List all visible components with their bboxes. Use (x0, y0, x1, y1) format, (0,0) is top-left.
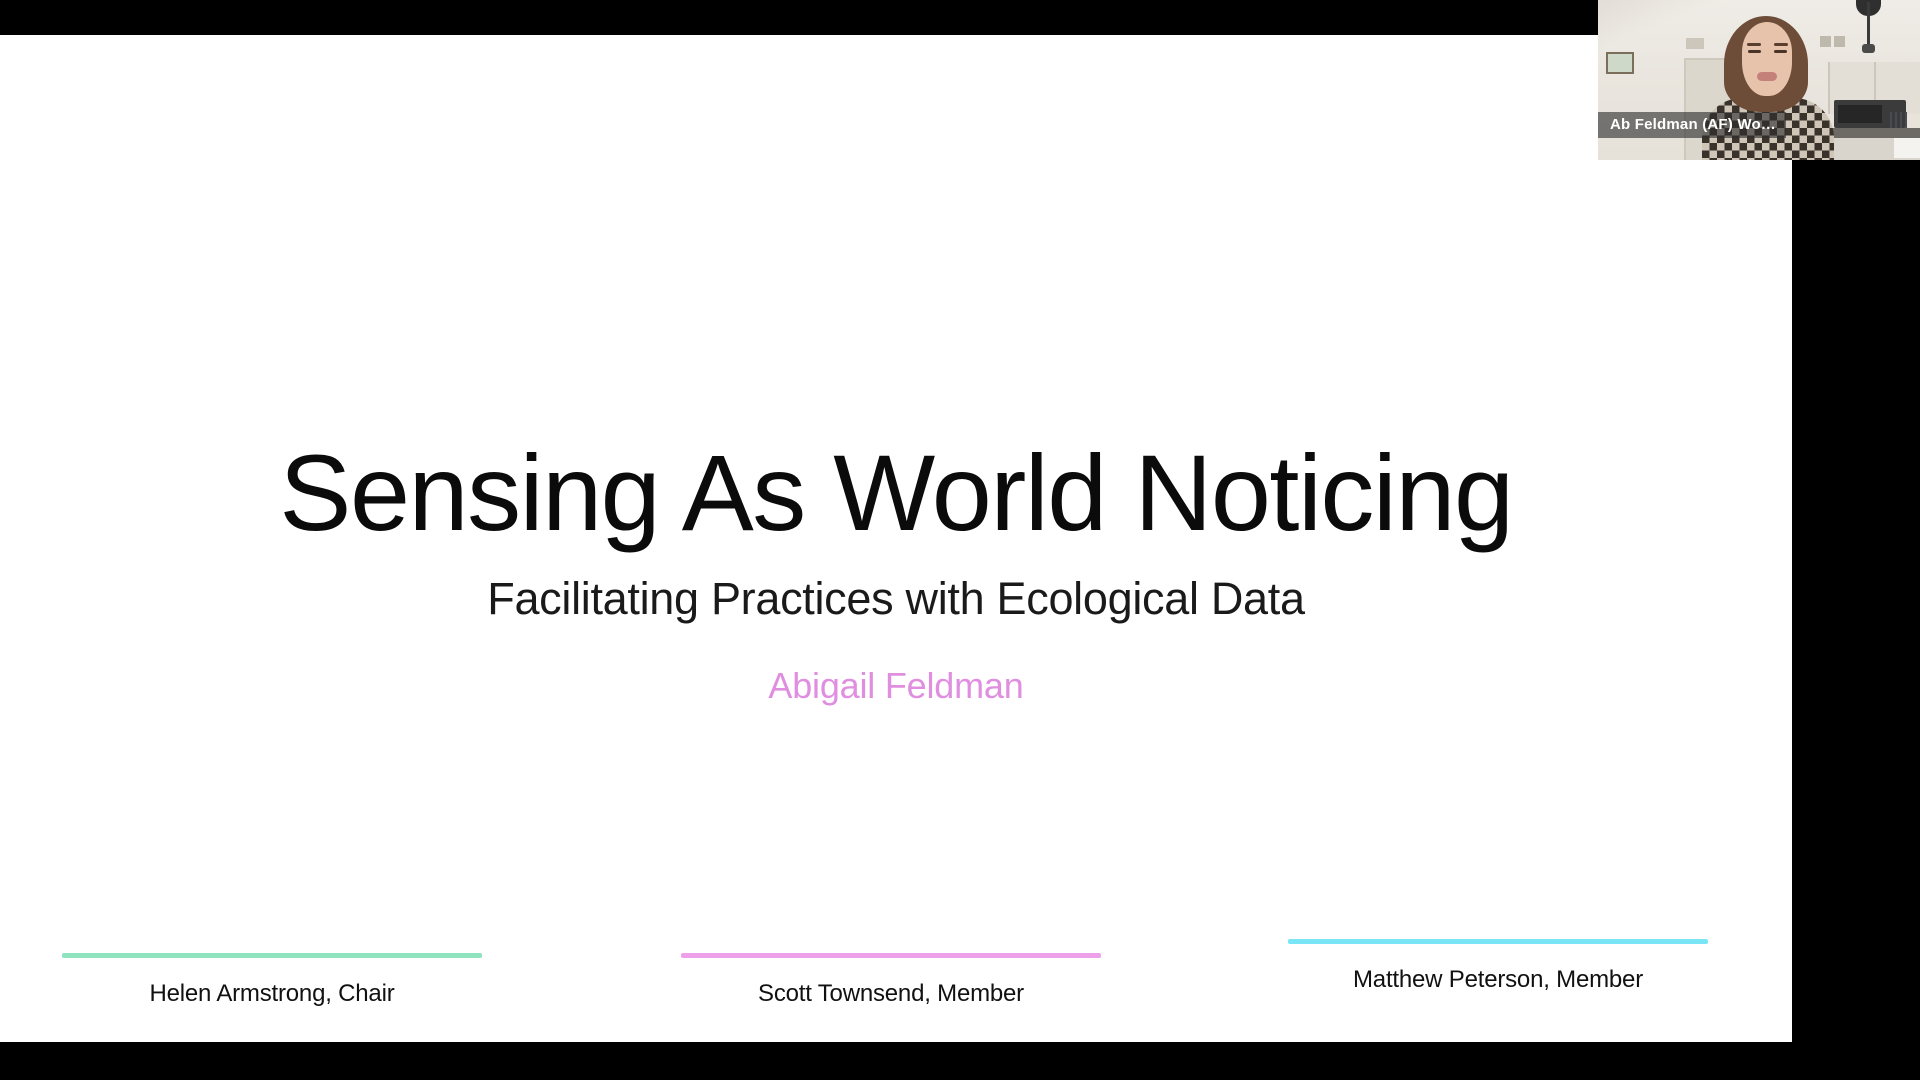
page-title: Sensing As World Noticing (0, 439, 1792, 547)
counter-utensils (1890, 112, 1908, 128)
person-eye-left (1748, 50, 1761, 53)
person-face (1742, 22, 1792, 96)
microwave-window (1838, 105, 1882, 123)
slide-content: Sensing As World Noticing Facilitating P… (0, 35, 1792, 1042)
title-block: Sensing As World Noticing Facilitating P… (0, 439, 1792, 707)
ceiling-angle (1598, 0, 1728, 48)
shared-slide-surface[interactable]: Sensing As World Noticing Facilitating P… (0, 35, 1792, 1042)
letterbox-right (1792, 160, 1920, 1042)
wall-fixture-a (1686, 38, 1704, 49)
kitchen-counter (1826, 128, 1920, 138)
wall-fixture-b (1820, 36, 1831, 47)
person-mouth (1757, 72, 1777, 81)
wall-fixture-c (1834, 36, 1845, 47)
committee-label-chair: Helen Armstrong, Chair (62, 980, 482, 1008)
slide-subtitle: Facilitating Practices with Ecological D… (0, 573, 1792, 625)
person-brow-left (1747, 43, 1761, 46)
committee-member-three: Matthew Peterson, Member (1288, 939, 1708, 994)
committee-label-three: Matthew Peterson, Member (1288, 966, 1708, 994)
committee-member-chair: Helen Armstrong, Chair (62, 953, 482, 1008)
participant-video-tile[interactable]: Ab Feldman (AF) Wo… (1598, 0, 1920, 160)
wall-art (1606, 52, 1634, 74)
person-brow-right (1774, 43, 1788, 46)
screen-share-viewport: Sensing As World Noticing Facilitating P… (0, 0, 1920, 1080)
presenter-name: Abigail Feldman (0, 665, 1792, 707)
pendant-lamp-rod (1867, 2, 1870, 44)
committee-label-two: Scott Townsend, Member (681, 980, 1101, 1008)
counter-appliance (1894, 138, 1920, 158)
committee-rule-two (681, 953, 1101, 958)
participant-name-label: Ab Feldman (AF) Wo… (1598, 112, 1786, 138)
person-eye-right (1774, 50, 1787, 53)
letterbox-bottom (0, 1042, 1920, 1080)
committee-rule-three (1288, 939, 1708, 944)
committee-member-two: Scott Townsend, Member (681, 953, 1101, 1008)
committee-row: Helen Armstrong, Chair Scott Townsend, M… (0, 915, 1792, 1035)
pendant-lamp-bulb (1862, 44, 1875, 53)
committee-rule-chair (62, 953, 482, 958)
